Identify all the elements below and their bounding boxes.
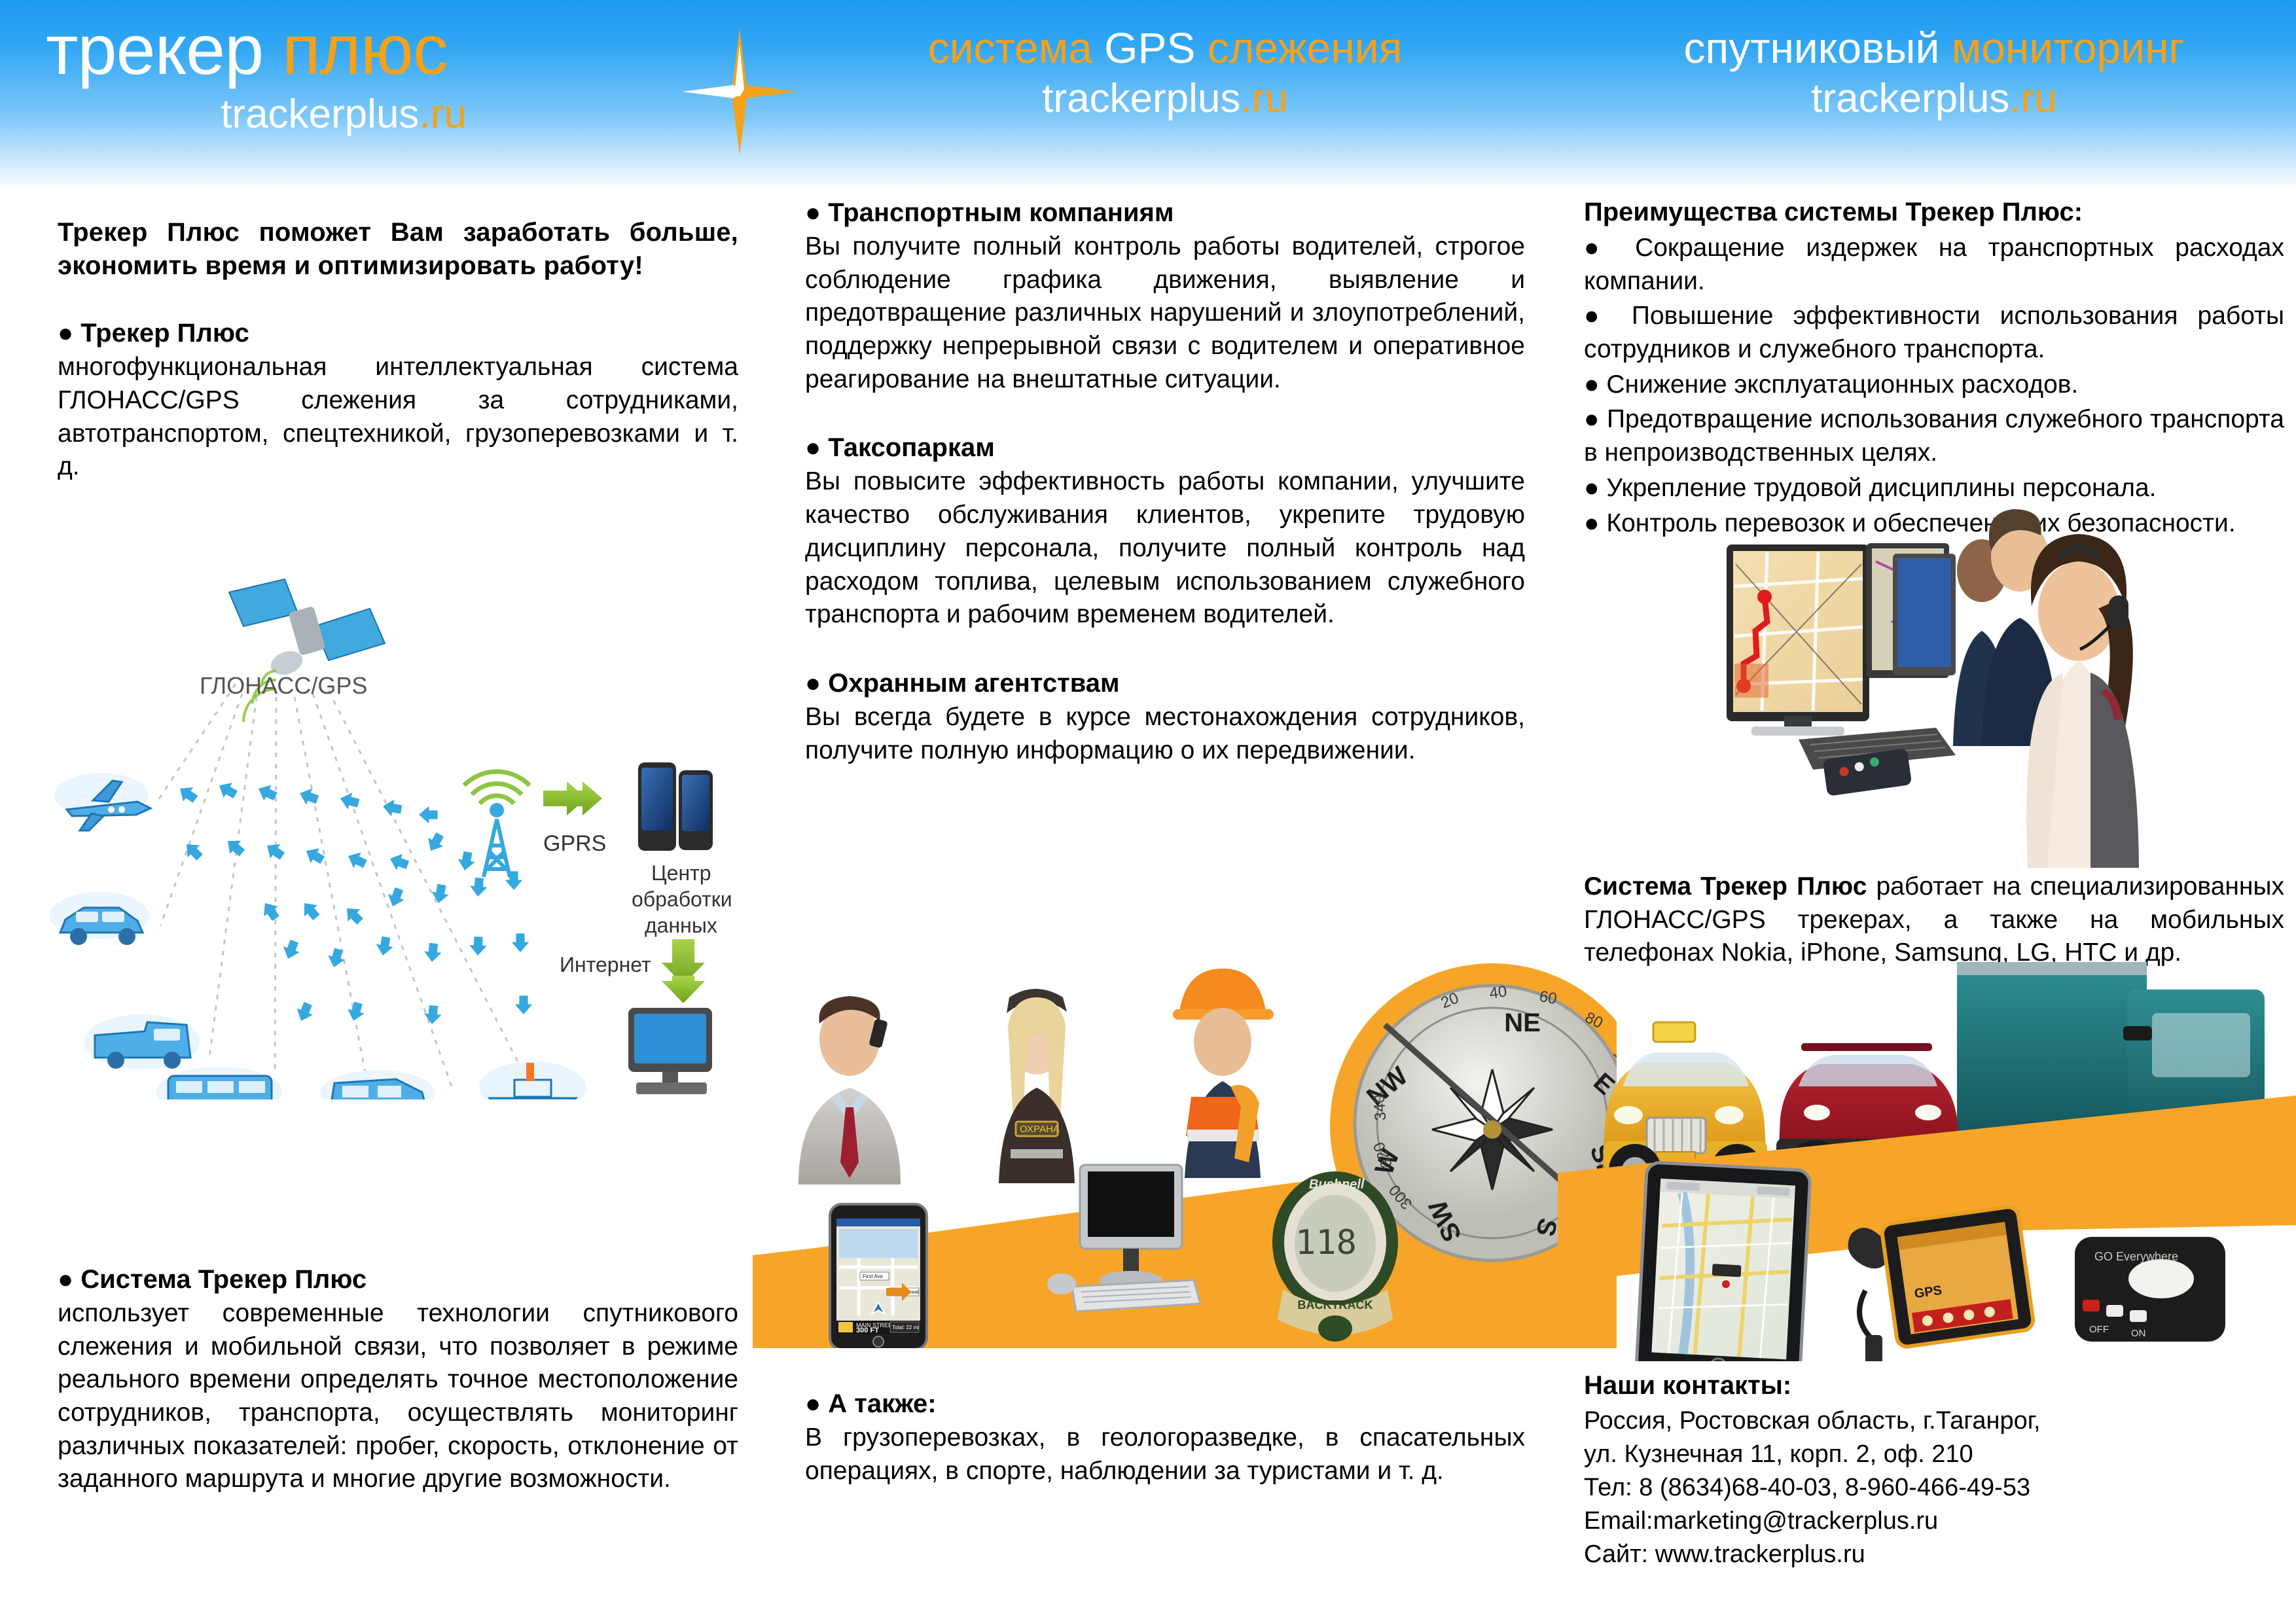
contacts-address-line2: ул. Кузнечная 11, корп. 2, оф. 210 <box>1584 1438 2284 1471</box>
also-body: В грузоперевозках, в геологоразведке, в … <box>805 1421 1525 1488</box>
gprs-label: GPRS <box>543 831 606 856</box>
data-flow-arrows-icon <box>175 778 532 1026</box>
tagline-right-part2: мониторинг <box>1952 24 2185 72</box>
handheld-value: 118 <box>1295 1223 1357 1262</box>
handheld-gps-device: Bushnell 118 BACKTRACK <box>1272 1171 1398 1342</box>
advantage-item: ● Предотвращение использования служебног… <box>1584 403 2284 469</box>
left-section2-heading: ● Система Трекер Плюс <box>58 1263 738 1296</box>
phone-nav-label-first-ave: First Ave <box>863 1274 884 1279</box>
left-section2-body: использует современные технологии спутни… <box>58 1297 738 1496</box>
header-right-tagline: спутниковый мониторинг <box>1584 26 2284 69</box>
businessman-photo <box>798 996 901 1185</box>
datacenter-label-line1: Центр <box>651 861 711 885</box>
advantages-list: ● Сокращение издержек на транспортных ра… <box>1584 232 2284 540</box>
tablet-with-map <box>1636 1162 1811 1361</box>
operator-foreground-woman <box>2026 534 2139 868</box>
schematic-svg: ГЛОНАСС/GPS <box>26 563 759 1099</box>
advantages-title: Преимущества системы Трекер Плюс: <box>1584 195 2284 229</box>
mid-block-transport-body: Вы получите полный контроль работы водит… <box>805 230 1525 396</box>
third-monitor <box>1893 554 1956 675</box>
handheld-brand-label: Bushnell <box>1309 1177 1365 1192</box>
airplane-icon <box>54 773 151 830</box>
call-center-photo <box>1715 504 2296 870</box>
lead-statement: Трекер Плюс поможет Вам заработать больш… <box>58 216 738 283</box>
page-header: трекер плюс trackerplus.ru система GPS с… <box>0 0 2296 190</box>
signal-rays-icon <box>157 684 524 1086</box>
header-center-url: trackerplus.ru <box>805 79 1525 119</box>
brand-logo-block: трекер плюс trackerplus.ru <box>46 14 766 135</box>
mid-block-taxi: ● Таксопаркам Вы повысите эффективность … <box>805 431 1525 631</box>
train-icon <box>320 1070 435 1099</box>
tracker-switch-on-label: ON <box>2131 1328 2146 1339</box>
tagline-right-part1: спутниковый <box>1684 24 1952 72</box>
user-label: Пользователь <box>596 1097 732 1099</box>
advantage-item: ● Сокращение издержек на транспортных ра… <box>1584 232 2284 298</box>
satellite-icon <box>229 579 385 722</box>
call-center-svg <box>1715 504 2296 870</box>
mid-block-taxi-heading: ● Таксопаркам <box>805 431 1525 464</box>
advantage-item: ● Укрепление трудовой дисциплины персона… <box>1584 472 2284 505</box>
brand-word-treker: трекер <box>46 10 263 89</box>
brand-wordmark: трекер плюс <box>46 14 766 85</box>
tracker-brand-label: GO Everywhere <box>2094 1250 2178 1263</box>
contacts-block: Наши контакты: Россия, Ростовская област… <box>1584 1371 2284 1571</box>
also-heading: ● А также: <box>805 1387 1525 1420</box>
compass-num-40: 40 <box>1488 982 1508 1002</box>
right-url-main: trackerplus <box>1811 76 2009 121</box>
left-column: Трекер Плюс поможет Вам заработать больш… <box>58 216 738 484</box>
guard-badge-label: ОХРАНА <box>1020 1124 1060 1135</box>
middle-column: ● Транспортным компаниям Вы получите пол… <box>805 196 1525 767</box>
phone-navigation-device: First Ave Main Street MAIN STREET 300 FT… <box>830 1204 927 1348</box>
mid-block-transport-heading: ● Транспортным компаниям <box>805 196 1525 229</box>
compass-star-icon <box>681 26 798 157</box>
tagline-center-gps: GPS <box>1104 24 1195 72</box>
brand-url: trackerplus.ru <box>46 94 766 135</box>
mid-block-transport: ● Транспортным компаниям Вы получите пол… <box>805 196 1525 396</box>
compass-num-60: 60 <box>1538 988 1558 1008</box>
center-collage-svg: ОХРАНА NE E SE S SW W NW <box>753 942 1617 1348</box>
contacts-title: Наши контакты: <box>1584 1371 2284 1400</box>
phone-nav-total: Total: 22 mi <box>892 1325 919 1330</box>
headset-icon <box>2109 596 2128 630</box>
handheld-model-label: BACKTRACK <box>1298 1298 1373 1311</box>
advantage-item: ● Повышение эффективности использования … <box>1584 300 2284 366</box>
contacts-email[interactable]: Email:marketing@trackerplus.ru <box>1584 1505 2284 1538</box>
gps-tracker-beacon: GO Everywhere OFF ON <box>2075 1237 2225 1342</box>
security-guard-photo: ОХРАНА <box>999 989 1075 1183</box>
mid-block-security-body: Вы всегда будете в курсе местонахождения… <box>805 701 1525 767</box>
tagline-center-part1: система <box>928 24 1104 72</box>
brand-word-plus: плюс <box>282 10 448 89</box>
car-icon <box>50 892 149 945</box>
center-photo-collage: ОХРАНА NE E SE S SW W NW <box>753 942 1617 1348</box>
mid-block-taxi-body: Вы повысите эффективность работы компани… <box>805 465 1525 631</box>
right-url-tld: .ru <box>2009 76 2056 121</box>
user-computer-icon <box>628 1008 712 1094</box>
header-right-block: спутниковый мониторинг trackerplus.ru <box>1584 26 2284 119</box>
phone-nav-distance: 300 FT <box>856 1327 879 1334</box>
mid-block-security-heading: ● Охранным агентствам <box>805 667 1525 700</box>
tagline-center-part2: слежения <box>1196 24 1403 72</box>
header-center-block: система GPS слежения trackerplus.ru <box>805 26 1525 119</box>
van-icon <box>84 1014 200 1069</box>
left-section1-body: многофункциональная интеллектуальная сис… <box>58 351 738 484</box>
datacenter-label-line3: данных <box>645 914 717 937</box>
internet-download-arrow-icon <box>662 939 705 1003</box>
right-photo-collage: GPS GO Everywhere OFF ON <box>1558 929 2296 1361</box>
left-column-lower: ● Система Трекер Плюс использует совреме… <box>58 1263 738 1496</box>
mid-block-security: ● Охранным агентствам Вы всегда будете в… <box>805 667 1525 767</box>
compass-num-340: 340 <box>1371 1094 1390 1122</box>
contacts-address-line1: Россия, Ростовская область, г.Таганрог, <box>1584 1404 2284 1438</box>
bus-icon <box>156 1067 282 1099</box>
header-right-url: trackerplus.ru <box>1584 79 2284 119</box>
ship-icon <box>479 1061 586 1099</box>
glonass-gps-schematic: ГЛОНАСС/GPS <box>26 563 759 1099</box>
gps-route-monitor <box>1727 544 1869 736</box>
brand-url-tld: .ru <box>419 92 466 137</box>
internet-label: Интернет <box>560 953 651 976</box>
satellite-label: ГЛОНАСС/GPS <box>200 672 367 699</box>
contacts-website[interactable]: Сайт: www.trackerplus.ru <box>1584 1538 2284 1571</box>
right-collage-svg: GPS GO Everywhere OFF ON <box>1558 929 2296 1361</box>
center-url-tld: .ru <box>1240 76 1287 121</box>
center-url-main: trackerplus <box>1042 76 1240 121</box>
left-section1-heading: ● Трекер Плюс <box>58 317 738 349</box>
also-block: ● А также: В грузоперевозках, в геологор… <box>805 1387 1525 1488</box>
header-center-tagline: система GPS слежения <box>805 26 1525 69</box>
devices-note-lead: Система Трекер Плюс <box>1584 872 1867 901</box>
data-center-phones-icon <box>638 762 713 851</box>
right-column: Преимущества системы Трекер Плюс: ● Сокр… <box>1584 195 2284 542</box>
construction-worker-photo <box>1173 969 1274 1178</box>
datacenter-label-line2: обработки <box>632 887 732 911</box>
advantage-item: ● Снижение эксплуатационных расходов. <box>1584 368 2284 402</box>
gprs-arrow-icon <box>543 781 602 815</box>
contacts-phone[interactable]: Тел: 8 (8634)68-40-03, 8-960-466-49-53 <box>1584 1471 2284 1505</box>
tracker-switch-off-label: OFF <box>2089 1324 2109 1335</box>
brand-url-main: trackerplus <box>221 92 419 137</box>
compass-label-ne: NE <box>1504 1008 1541 1037</box>
cell-tower-icon <box>464 772 529 877</box>
